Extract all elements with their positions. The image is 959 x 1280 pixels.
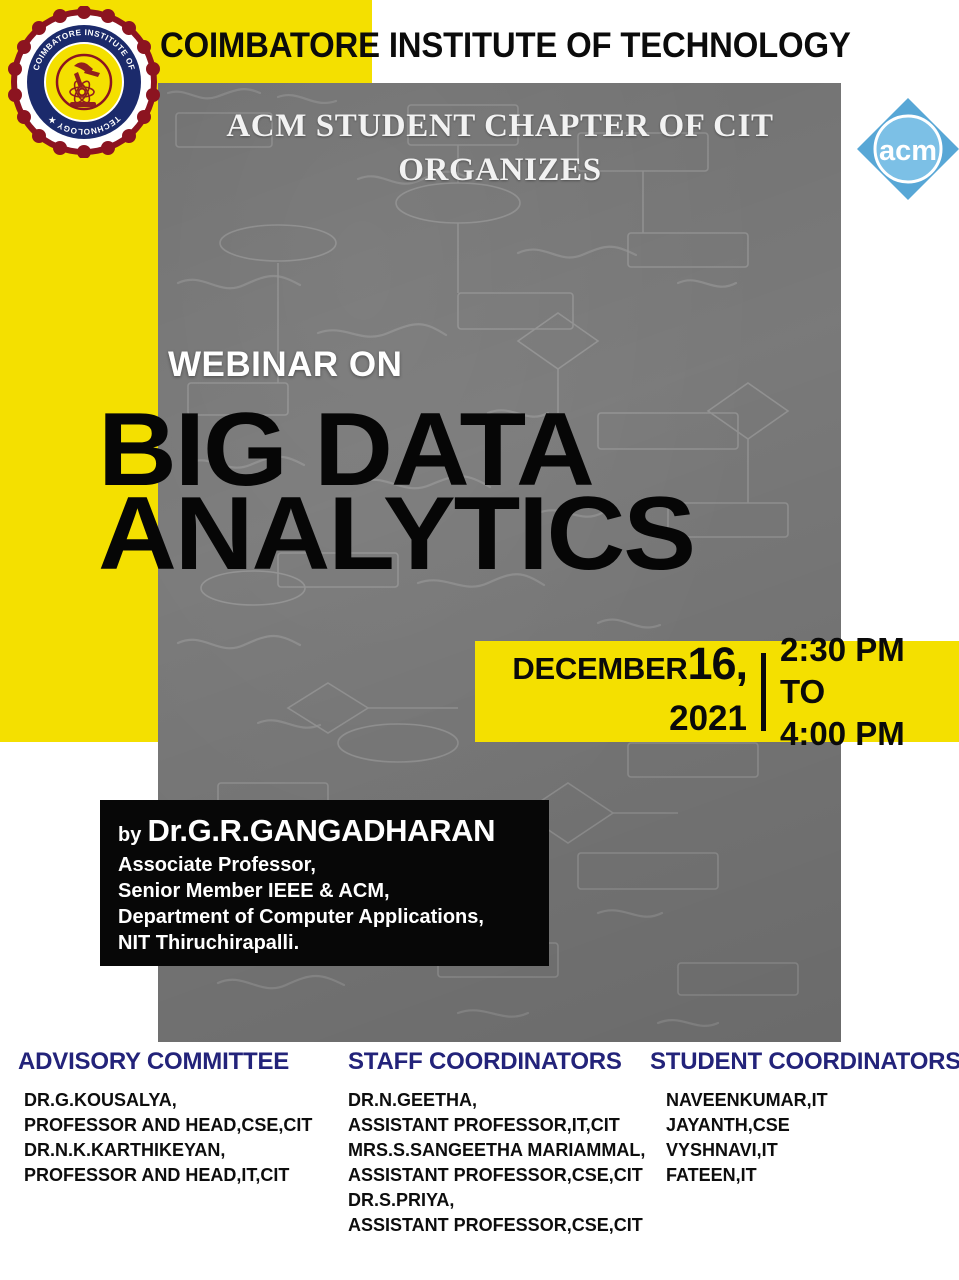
- advisory-committee-heading: ADVISORY COMMITTEE: [18, 1048, 338, 1076]
- list-item: DR.S.PRIYA,: [338, 1188, 648, 1213]
- acm-diamond-icon: acm: [855, 96, 959, 202]
- event-date-month: DECEMBER: [512, 651, 687, 686]
- list-item: DR.G.KOUSALYA,: [18, 1088, 338, 1113]
- list-item: PROFESSOR AND HEAD,CSE,CIT: [18, 1113, 338, 1138]
- advisory-committee-column: ADVISORY COMMITTEE DR.G.KOUSALYA, PROFES…: [18, 1048, 338, 1188]
- speaker-name-line: by Dr.G.R.GANGADHARAN: [118, 814, 549, 852]
- svg-text:acm: acm: [879, 135, 937, 167]
- staff-coordinators-column: STAFF COORDINATORS DR.N.GEETHA, ASSISTAN…: [338, 1048, 648, 1238]
- speaker-card: by Dr.G.R.GANGADHARAN Associate Professo…: [100, 800, 549, 966]
- staff-coordinators-heading: STAFF COORDINATORS: [338, 1048, 648, 1076]
- organizer-heading: ACM STUDENT CHAPTER OF CIT ORGANIZES: [170, 104, 830, 192]
- list-item: JAYANTH,CSE: [648, 1113, 959, 1138]
- list-item: NAVEENKUMAR,IT: [648, 1088, 959, 1113]
- speaker-name: Dr.G.R.GANGADHARAN: [147, 813, 495, 848]
- speaker-department: Department of Computer Applications,: [118, 904, 549, 930]
- event-title-line-2: ANALYTICS: [98, 492, 896, 576]
- organizer-line-1: ACM STUDENT CHAPTER OF CIT: [170, 104, 830, 148]
- event-kicker: WEBINAR ON: [168, 345, 402, 385]
- student-coordinators-heading: STUDENT COORDINATORS: [648, 1048, 959, 1076]
- list-item: ASSISTANT PROFESSOR,IT,CIT: [338, 1113, 648, 1138]
- date-time-banner: DECEMBER16, 2021 2:30 PM TO 4:00 PM: [475, 641, 959, 742]
- cit-seal-icon: COIMBATORE INSTITUTE OF TECHNOLOGY ★: [8, 6, 160, 158]
- student-coordinators-list: NAVEENKUMAR,IT JAYANTH,CSE VYSHNAVI,IT F…: [648, 1088, 959, 1188]
- list-item: VYSHNAVI,IT: [648, 1138, 959, 1163]
- event-date-year: 2021: [475, 697, 747, 741]
- list-item: FATEEN,IT: [648, 1163, 959, 1188]
- student-coordinators-column: STUDENT COORDINATORS NAVEENKUMAR,IT JAYA…: [648, 1048, 959, 1188]
- event-time-line-2: 4:00 PM: [780, 713, 959, 755]
- organizer-line-2: ORGANIZES: [170, 148, 830, 192]
- staff-coordinators-list: DR.N.GEETHA, ASSISTANT PROFESSOR,IT,CIT …: [338, 1088, 648, 1238]
- committees-section: ADVISORY COMMITTEE DR.G.KOUSALYA, PROFES…: [0, 1048, 959, 1280]
- list-item: PROFESSOR AND HEAD,IT,CIT: [18, 1163, 338, 1188]
- event-date-day: 16,: [687, 638, 747, 689]
- advisory-committee-list: DR.G.KOUSALYA, PROFESSOR AND HEAD,CSE,CI…: [18, 1088, 338, 1188]
- list-item: ASSISTANT PROFESSOR,CSE,CIT: [338, 1163, 648, 1188]
- list-item: MRS.S.SANGEETHA MARIAMMAL,: [338, 1138, 648, 1163]
- speaker-institute: NIT Thiruchirapalli.: [118, 930, 549, 956]
- event-time-line-1: 2:30 PM TO: [780, 629, 959, 713]
- list-item: ASSISTANT PROFESSOR,CSE,CIT: [338, 1213, 648, 1238]
- list-item: DR.N.K.KARTHIKEYAN,: [18, 1138, 338, 1163]
- speaker-designation: Associate Professor,: [118, 852, 549, 878]
- event-time: 2:30 PM TO 4:00 PM: [766, 629, 959, 755]
- event-title: BIG DATA ANALYTICS: [98, 408, 896, 576]
- event-date: DECEMBER16, 2021: [475, 642, 761, 741]
- institution-name: COIMBATORE INSTITUTE OF TECHNOLOGY: [160, 20, 874, 72]
- list-item: DR.N.GEETHA,: [338, 1088, 648, 1113]
- speaker-by-label: by: [118, 824, 141, 846]
- speaker-membership: Senior Member IEEE & ACM,: [118, 878, 549, 904]
